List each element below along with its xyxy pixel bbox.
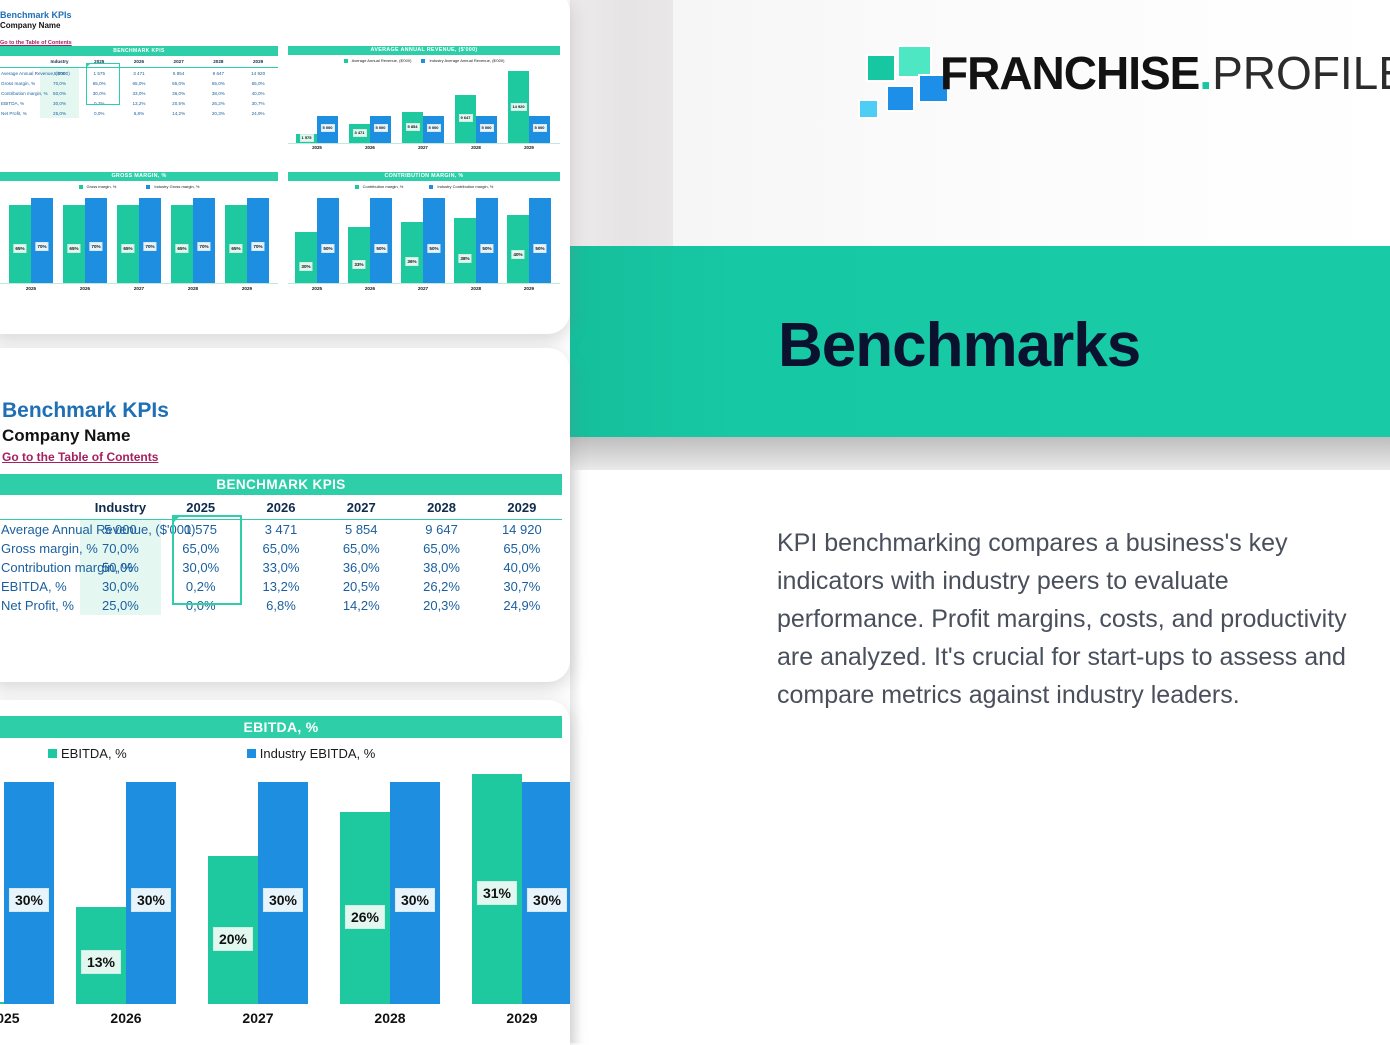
table-row: Average Annual Revenue, ($'000) 5 000 1 … [0, 520, 562, 540]
card1-table-banner: BENCHMARK KPIS [0, 46, 278, 56]
bar-group: 3 471 5 000 [345, 71, 395, 143]
bar-company: 26% [340, 812, 390, 1004]
bar-company: 13% [76, 907, 126, 1004]
card1-r1-v2: 65,0% [159, 78, 199, 88]
bar-value-label: 50% [321, 244, 334, 253]
bar-group: 9 647 5 000 [451, 71, 501, 143]
description-paragraph: KPI benchmarking compares a business's k… [777, 524, 1357, 714]
bar-value-label: 5 000 [373, 124, 387, 132]
bar-industry: 70% [139, 198, 161, 283]
card2-r4-v3: 20,3% [401, 596, 481, 615]
card1-r4-v3: 20,3% [199, 108, 239, 118]
bar-value-label: 65% [229, 244, 242, 253]
bar-company: 65% [171, 205, 193, 283]
bar-company: 5 854 [402, 112, 423, 143]
legend-item: Gross margin, % [79, 184, 117, 189]
card2-r1-label: Gross margin, % [0, 539, 80, 558]
legend-swatch-teal-icon [79, 185, 83, 189]
card2-r4-v1: 6,8% [241, 596, 321, 615]
card1-r0-v1: 3 471 [119, 68, 159, 79]
bar-value-label: 65% [121, 244, 134, 253]
card2-table-banner-row: BENCHMARK KPIS [0, 474, 562, 495]
legend-label: Average Annual Revenue, ($'000) [352, 58, 412, 63]
logo-wordmark: FRANCHISE.PROFILES [940, 42, 1390, 104]
card1-r1-v1: 65,0% [119, 78, 159, 88]
bar-industry: 5 000 [423, 116, 444, 143]
card1-table-banner-row: BENCHMARK KPIS [0, 46, 278, 56]
card2-company-name: Company Name [2, 424, 169, 448]
card1-r1-v4: 65,0% [238, 78, 278, 88]
bar-group: 5 854 5 000 [398, 71, 448, 143]
bar-industry: 30% [4, 782, 54, 1004]
lower-left-gray-strip [570, 470, 582, 1043]
card1-header-row: Industry 2025 2026 2027 2028 2029 [0, 56, 278, 68]
table-row: EBITDA, % 30,0% 0,2% 13,2% 20,5% 26,2% 3… [0, 577, 562, 596]
card1-r1-v3: 65,0% [199, 78, 239, 88]
legend-label: Industry Contribution margin, % [437, 184, 493, 189]
bar-industry: 70% [31, 198, 53, 283]
x-tick-label: 2027 [398, 145, 448, 150]
bar-industry: 5 000 [317, 116, 338, 143]
card2-r3-v3: 26,2% [401, 577, 481, 596]
logo-square-blue-lower [886, 85, 915, 112]
card1-sheet-title: Benchmark KPIs [0, 10, 72, 21]
legend-label: Industry Gross margin, % [154, 184, 199, 189]
x-tick-label: 2026 [345, 286, 395, 291]
bar-group: 36% 50% [398, 195, 448, 283]
card1-kpi-table: BENCHMARK KPIS Industry 2025 2026 2027 2… [0, 46, 278, 118]
x-tick-label: 2029 [462, 1010, 570, 1026]
bar-value-label: 70% [197, 242, 210, 251]
card1-r0-v2: 5 854 [159, 68, 199, 79]
card2-selection-corner-marker [173, 516, 180, 523]
bar-industry: 70% [247, 198, 269, 283]
chart-contribution-margin-small-title: CONTRIBUTION MARGIN, % [288, 172, 560, 181]
bar-industry: 30% [390, 782, 440, 1004]
bar-company: 31% [472, 774, 522, 1004]
bar-value-label: 50% [374, 244, 387, 253]
table-row: Contribution margin, % 50,0% 30,0% 33,0%… [0, 88, 278, 98]
x-tick-label: 2025 [6, 286, 56, 291]
bar-group: 38% 50% [451, 195, 501, 283]
table-row: EBITDA, % 30,0% 0,2% 13,2% 20,5% 26,2% 3… [0, 98, 278, 108]
card1-company-name: Company Name [0, 21, 72, 31]
card2-r2-v3: 38,0% [401, 558, 481, 577]
dashboard-card-table: Benchmark KPIs Company Name Go to the Ta… [0, 348, 570, 682]
x-tick-label: 2025 [292, 145, 342, 150]
chart-gross-margin-small-axis: 2025 2026 2027 2028 2029 [0, 284, 278, 295]
bar-value-label: 5 854 [405, 123, 419, 131]
legend-swatch-teal-icon [48, 749, 57, 758]
bar-value-label: 65% [175, 244, 188, 253]
bar-value-label: 70% [143, 242, 156, 251]
card1-r2-v0: 30,0% [79, 88, 119, 98]
bar-group: 65% 70% [222, 195, 272, 283]
chart-revenue-small-legend: Average Annual Revenue, ($'000) Industry… [288, 55, 560, 66]
page-title: Benchmarks [778, 310, 1140, 381]
card1-r2-v3: 38,0% [199, 88, 239, 98]
bar-value-label: 5 000 [479, 124, 493, 132]
card2-r2-v4: 40,0% [482, 558, 562, 577]
bar-group: 65% 70% [114, 195, 164, 283]
dashboard-card-ebitda: EBITDA, % EBITDA, % Industry EBITDA, % 0… [0, 700, 570, 1045]
bar-industry: 50% [370, 198, 392, 283]
card2-table-banner: BENCHMARK KPIS [0, 474, 562, 495]
card2-kpi-table: BENCHMARK KPIS Industry 2025 2026 2027 2… [0, 474, 562, 615]
card1-r4-v4: 24,9% [238, 108, 278, 118]
logo-square-teal-mid [866, 54, 896, 82]
bar-group: 65% 70% [60, 195, 110, 283]
bar-group: 20% 30% [198, 774, 318, 1004]
card2-r4-v2: 14,2% [321, 596, 401, 615]
card1-r2-v1: 33,0% [119, 88, 159, 98]
card1-col-2029: 2029 [238, 56, 278, 68]
bar-value-label: 50% [427, 244, 440, 253]
card2-r1-v4: 65,0% [482, 539, 562, 558]
card2-r2-v0: 30,0% [161, 558, 241, 577]
bar-company: 9 647 [455, 95, 476, 143]
card2-toc-link[interactable]: Go to the Table of Contents [2, 448, 158, 466]
bar-value-label: 30% [9, 888, 49, 912]
bar-value-label: 36% [405, 257, 418, 266]
x-tick-label: 2028 [330, 1010, 450, 1026]
x-tick-label: 2029 [504, 286, 554, 291]
card1-col-2027: 2027 [159, 56, 199, 68]
card1-r2-v4: 40,0% [238, 88, 278, 98]
card2-r4-v0: 0,0% [161, 596, 241, 615]
logo-dot: . [1199, 47, 1212, 99]
card1-r3-v2: 20,5% [159, 98, 199, 108]
card1-r4-v2: 14,2% [159, 108, 199, 118]
card1-r2-label: Contribution margin, % [0, 88, 40, 98]
bar-industry: 5 000 [370, 116, 391, 143]
chart-gross-margin-small: GROSS MARGIN, % Gross margin, % Industry… [0, 172, 278, 297]
x-tick-label: 2026 [66, 1010, 186, 1026]
x-tick-label: 2028 [451, 286, 501, 291]
chart-ebitda: EBITDA, % EBITDA, % Industry EBITDA, % 0… [0, 716, 562, 1036]
card1-r1-industry: 70,0% [40, 78, 80, 88]
card2-r1-v0: 65,0% [161, 539, 241, 558]
card1-r3-industry: 30,0% [40, 98, 80, 108]
bar-company: 65% [63, 205, 85, 283]
chart-gross-margin-small-title: GROSS MARGIN, % [0, 172, 278, 181]
bar-group: 65% 70% [6, 195, 56, 283]
bar-group: 30% 50% [292, 195, 342, 283]
bar-value-label: 70% [89, 242, 102, 251]
chart-revenue-small-axis: 2025 2026 2027 2028 2029 [288, 144, 560, 154]
x-tick-label: 2027 [114, 286, 164, 291]
card2-col-2026: 2026 [241, 495, 321, 520]
card2-col-industry: Industry [80, 495, 160, 520]
card2-r1-v3: 65,0% [401, 539, 481, 558]
table-row: Net Profit, % 25,0% 0,0% 6,8% 14,2% 20,3… [0, 108, 278, 118]
card2-col-2029: 2029 [482, 495, 562, 520]
dashboard-card-overview: Benchmark KPIs Company Name Go to the Ta… [0, 0, 570, 334]
table-row: Net Profit, % 25,0% 0,0% 6,8% 14,2% 20,3… [0, 596, 562, 615]
bar-value-label: 38% [458, 254, 471, 263]
card2-r1-v2: 65,0% [321, 539, 401, 558]
legend-swatch-blue-icon [146, 185, 150, 189]
legend-swatch-blue-icon [429, 185, 433, 189]
legend-item: Average Annual Revenue, ($'000) [344, 58, 412, 63]
card2-r3-v2: 20,5% [321, 577, 401, 596]
card1-r3-v3: 26,2% [199, 98, 239, 108]
card2-kpi-table-wrap: BENCHMARK KPIS Industry 2025 2026 2027 2… [0, 474, 562, 615]
chart-ebitda-plot: 0% 30% 13% 30% 20% 30% 26% 30% 31% 30% [0, 768, 562, 1004]
card2-r1-v1: 65,0% [241, 539, 321, 558]
chart-gross-margin-small-legend: Gross margin, % Industry Gross margin, % [0, 181, 278, 192]
bar-value-label: 30% [263, 888, 303, 912]
bar-company: 30% [295, 232, 317, 283]
card2-r3-v0: 0,2% [161, 577, 241, 596]
card2-r3-v4: 30,7% [482, 577, 562, 596]
card1-selection-corner-marker [86, 63, 91, 68]
chart-contribution-margin-small-plot: 30% 50% 33% 50% 36% 50% 38% 50% 40% 50% [288, 192, 560, 284]
card1-r3-v0: 0,2% [79, 98, 119, 108]
bar-value-label: 33% [352, 260, 365, 269]
bar-company: 65% [225, 205, 247, 283]
card2-r2-v2: 36,0% [321, 558, 401, 577]
bar-value-label: 20% [213, 927, 253, 951]
x-tick-label: 2029 [222, 286, 272, 291]
chart-gross-margin-small-plot: 65% 70% 65% 70% 65% 70% 65% 70% 65% 70% [0, 192, 278, 284]
card1-r4-industry: 25,0% [40, 108, 80, 118]
card2-r3-label: EBITDA, % [0, 577, 80, 596]
legend-item: Industry Average Annual Revenue, ($'000) [421, 58, 504, 63]
card2-col-2027: 2027 [321, 495, 401, 520]
card1-kpi-table-wrap: BENCHMARK KPIS Industry 2025 2026 2027 2… [0, 46, 278, 118]
card1-r4-label: Net Profit, % [0, 108, 40, 118]
bar-value-label: 50% [533, 244, 546, 253]
card2-r0-v2: 5 854 [321, 520, 401, 540]
card2-r0-v4: 14 920 [482, 520, 562, 540]
logo-square-cyan-small [858, 99, 879, 119]
bar-industry: 30% [522, 782, 570, 1004]
bar-value-label: 70% [251, 242, 264, 251]
chart-ebitda-title: EBITDA, % [0, 716, 562, 738]
bar-value-label: 30% [131, 888, 171, 912]
x-tick-label: 2028 [451, 145, 501, 150]
card1-heading-block: Benchmark KPIs Company Name Go to the Ta… [0, 10, 72, 49]
legend-item: Industry Gross margin, % [146, 184, 199, 189]
card2-r2-v1: 33,0% [241, 558, 321, 577]
card2-r0-v1: 3 471 [241, 520, 321, 540]
x-tick-label: 2028 [168, 286, 218, 291]
bar-group: 0% 30% [0, 774, 64, 1004]
card1-r3-label: EBITDA, % [0, 98, 40, 108]
card2-r4-v4: 24,9% [482, 596, 562, 615]
table-row: Average Annual Revenue, ($'000) 5 000 1 … [0, 68, 278, 79]
bar-industry: 50% [423, 198, 445, 283]
card1-r0-v3: 9 647 [199, 68, 239, 79]
brand-logo: FRANCHISE.PROFILES [852, 44, 1352, 106]
card1-r4-v1: 6,8% [119, 108, 159, 118]
x-tick-label: 2025 [292, 286, 342, 291]
bar-group: 14 920 5 000 [504, 71, 554, 143]
bar-company: 36% [401, 222, 423, 283]
bar-company: 38% [454, 218, 476, 283]
table-row: Contribution margin, % 50,0% 30,0% 33,0%… [0, 558, 562, 577]
card1-r2-v2: 36,0% [159, 88, 199, 98]
x-tick-label: 2026 [60, 286, 110, 291]
card1-r4-v0: 0,0% [79, 108, 119, 118]
bar-value-label: 65% [13, 244, 26, 253]
card1-r0-label: Average Annual Revenue, ($'000) [0, 68, 40, 79]
chart-contribution-margin-small-legend: Contribution margin, % Industry Contribu… [288, 181, 560, 192]
bar-industry: 30% [126, 782, 176, 1004]
bar-value-label: 26% [345, 905, 385, 929]
card1-col-2028: 2028 [199, 56, 239, 68]
chart-contribution-margin-small-axis: 2025 2026 2027 2028 2029 [288, 284, 560, 295]
legend-item: Contribution margin, % [355, 184, 404, 189]
bar-industry: 70% [193, 198, 215, 283]
chart-ebitda-axis: 2025 2026 2027 2028 2029 [0, 1004, 562, 1034]
card1-col-blank [0, 56, 40, 68]
bar-industry: 50% [529, 198, 551, 283]
bar-group: 33% 50% [345, 195, 395, 283]
bar-industry: 50% [317, 198, 339, 283]
legend-swatch-blue-icon [421, 59, 425, 63]
bar-value-label: 50% [480, 244, 493, 253]
card1-r3-v4: 30,7% [238, 98, 278, 108]
x-tick-label: 2029 [504, 145, 554, 150]
legend-label: Contribution margin, % [363, 184, 404, 189]
table-row: Gross margin, % 70,0% 65,0% 65,0% 65,0% … [0, 539, 562, 558]
bar-value-label: 3 471 [352, 129, 366, 137]
chart-contribution-margin-small: CONTRIBUTION MARGIN, % Contribution marg… [288, 172, 560, 297]
x-tick-label: 2026 [345, 145, 395, 150]
x-tick-label: 2027 [198, 1010, 318, 1026]
bar-value-label: 30% [395, 888, 435, 912]
chart-revenue-small-title: AVERAGE ANNUAL REVENUE, ($'000) [288, 46, 560, 55]
bar-industry: 5 000 [529, 116, 550, 143]
bar-company: 65% [117, 205, 139, 283]
bar-value-label: 5 000 [426, 124, 440, 132]
bar-value-label: 31% [477, 881, 517, 905]
chart-revenue-small: AVERAGE ANNUAL REVENUE, ($'000) Average … [288, 46, 560, 158]
bar-industry: 5 000 [476, 116, 497, 143]
bar-company: 40% [507, 215, 529, 283]
bar-company: 20% [208, 856, 258, 1004]
bar-industry: 70% [85, 198, 107, 283]
logo-mosaic-icon [852, 44, 920, 104]
chart-ebitda-legend: EBITDA, % Industry EBITDA, % [0, 738, 562, 768]
legend-label: EBITDA, % [61, 746, 127, 761]
legend-label: Industry EBITDA, % [260, 746, 376, 761]
card2-header-row: Industry 2025 2026 2027 2028 2029 [0, 495, 562, 520]
bar-value-label: 9 647 [458, 114, 472, 122]
card2-sheet-title: Benchmark KPIs [2, 398, 169, 424]
card1-r3-v1: 13,2% [119, 98, 159, 108]
bar-company: 14 920 [508, 71, 529, 143]
card1-r0-v0: 1 575 [79, 68, 119, 79]
bar-industry: 30% [258, 782, 308, 1004]
table-row: Gross margin, % 70,0% 65,0% 65,0% 65,0% … [0, 78, 278, 88]
card2-heading-block: Benchmark KPIs Company Name Go to the Ta… [2, 398, 169, 466]
bar-group: 40% 50% [504, 195, 554, 283]
logo-bold-text: FRANCHISE [940, 47, 1199, 99]
card2-col-2028: 2028 [401, 495, 481, 520]
card1-r1-label: Gross margin, % [0, 78, 40, 88]
bar-value-label: 30% [527, 888, 567, 912]
x-tick-label: 2027 [398, 286, 448, 291]
legend-label: Industry Average Annual Revenue, ($'000) [429, 58, 504, 63]
card2-r3-industry: 30,0% [80, 577, 160, 596]
bar-company: 65% [9, 205, 31, 283]
legend-swatch-blue-icon [247, 749, 256, 758]
bar-group: 1 575 5 000 [292, 71, 342, 143]
card2-r4-label: Net Profit, % [0, 596, 80, 615]
legend-item: Industry EBITDA, % [247, 746, 376, 761]
bar-company: 3 471 [349, 124, 370, 143]
bar-company: 1 575 [296, 134, 317, 143]
bar-group: 13% 30% [66, 774, 186, 1004]
x-tick-label: 2025 [0, 1010, 64, 1026]
logo-light-text: PROFILES [1212, 47, 1390, 99]
card2-r3-v1: 13,2% [241, 577, 321, 596]
card2-r0-v3: 9 647 [401, 520, 481, 540]
legend-item: Industry Contribution margin, % [429, 184, 493, 189]
bar-value-label: 14 920 [510, 103, 526, 111]
bar-company: 33% [348, 227, 370, 283]
bar-industry: 50% [476, 198, 498, 283]
card1-col-industry: Industry [40, 56, 80, 68]
card1-r0-v4: 14 920 [238, 68, 278, 79]
bar-value-label: 30% [299, 262, 312, 271]
card1-r1-v0: 65,0% [79, 78, 119, 88]
bar-value-label: 1 575 [299, 134, 313, 142]
card2-r2-label: Contribution margin, % [0, 558, 80, 577]
bar-value-label: 5 000 [320, 124, 334, 132]
bar-value-label: 5 000 [532, 124, 546, 132]
bar-value-label: 70% [35, 242, 48, 251]
bar-group: 26% 30% [330, 774, 450, 1004]
card2-r4-industry: 25,0% [80, 596, 160, 615]
card1-col-2026: 2026 [119, 56, 159, 68]
card2-r0-label: Average Annual Revenue, ($'000) [0, 520, 80, 540]
legend-swatch-teal-icon [355, 185, 359, 189]
legend-item: EBITDA, % [48, 746, 127, 761]
card2-col-blank [0, 495, 80, 520]
bar-value-label: 40% [511, 250, 524, 259]
bar-group: 31% 30% [462, 774, 570, 1004]
bar-group: 65% 70% [168, 195, 218, 283]
legend-swatch-teal-icon [344, 59, 348, 63]
bar-value-label: 65% [67, 244, 80, 253]
chart-revenue-small-plot: 1 575 5 000 3 471 5 000 5 854 5 000 9 64… [288, 66, 560, 144]
bar-value-label: 13% [81, 950, 121, 974]
legend-label: Gross margin, % [87, 184, 117, 189]
